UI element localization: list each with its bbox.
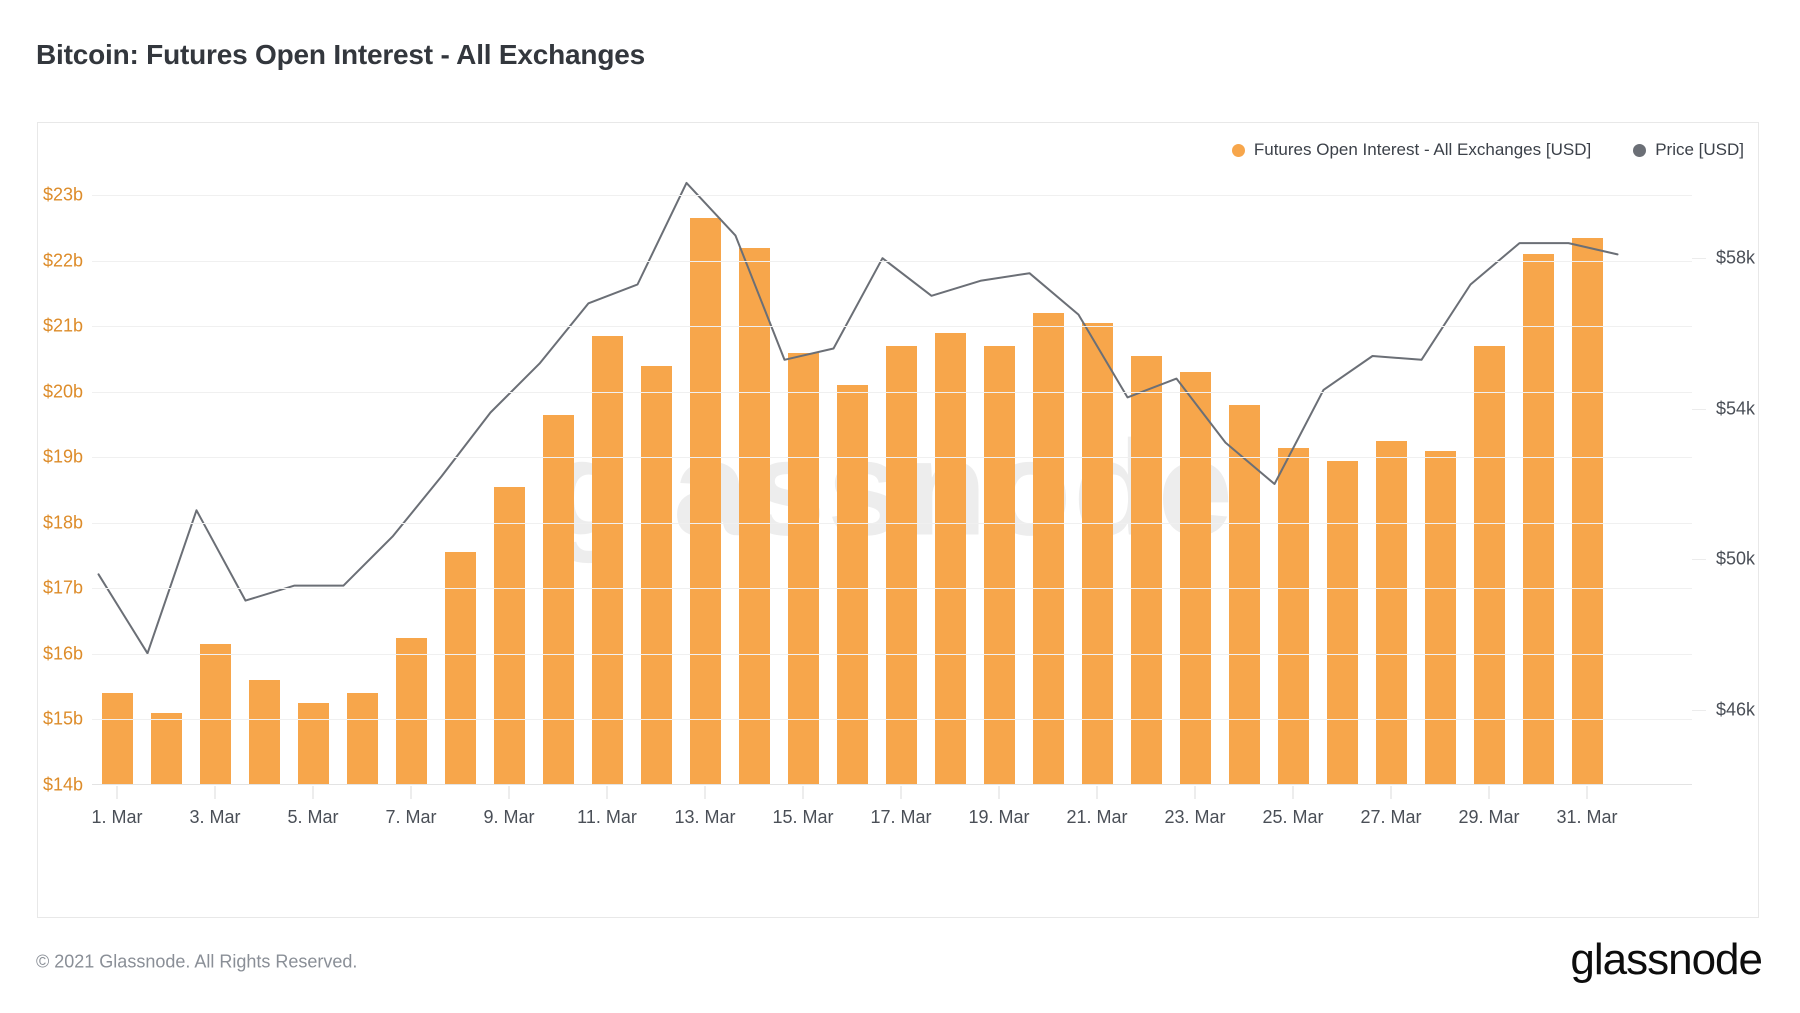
x-axis-tick-label: 1. Mar — [91, 807, 142, 828]
x-axis-tick-label: 11. Mar — [577, 807, 637, 828]
y-axis-right-tick-mark — [1692, 258, 1706, 259]
gridline — [92, 261, 1692, 262]
gridline — [92, 326, 1692, 327]
x-axis-tick-label: 15. Mar — [772, 807, 833, 828]
y-axis-left-tick-label: $15b — [43, 709, 83, 730]
x-axis-tick-mark — [312, 786, 314, 799]
legend-item[interactable]: Price [USD] — [1633, 140, 1744, 160]
x-axis-tick-mark — [1488, 786, 1490, 799]
y-axis-right-tick-label: $54k — [1716, 398, 1755, 419]
gridline — [92, 654, 1692, 655]
series-dot-icon — [1232, 144, 1245, 157]
x-axis-tick-mark — [1194, 786, 1196, 799]
x-axis-tick-label: 13. Mar — [674, 807, 735, 828]
y-axis-right-tick-label: $46k — [1716, 699, 1755, 720]
legend-item[interactable]: Futures Open Interest - All Exchanges [U… — [1232, 140, 1591, 160]
gridline — [92, 588, 1692, 589]
page-title: Bitcoin: Futures Open Interest - All Exc… — [36, 39, 645, 71]
y-axis-left-tick-label: $16b — [43, 643, 83, 664]
x-axis-tick-label: 19. Mar — [968, 807, 1029, 828]
x-axis-tick-label: 25. Mar — [1262, 807, 1323, 828]
x-axis-tick-label: 31. Mar — [1556, 807, 1617, 828]
x-axis-tick-label: 7. Mar — [385, 807, 436, 828]
y-axis-left-tick-label: $14b — [43, 775, 83, 796]
x-axis-tick-mark — [1292, 786, 1294, 799]
footer-logo: glassnode — [1570, 935, 1762, 985]
y-axis-left-tick-label: $18b — [43, 512, 83, 533]
legend-label: Price [USD] — [1655, 140, 1744, 160]
x-axis-tick-label: 27. Mar — [1360, 807, 1421, 828]
gridline — [92, 523, 1692, 524]
y-axis-left-tick-label: $21b — [43, 316, 83, 337]
series-dot-icon — [1633, 144, 1646, 157]
y-axis-right-tick-mark — [1692, 409, 1706, 410]
x-axis-tick-label: 5. Mar — [287, 807, 338, 828]
legend-label: Futures Open Interest - All Exchanges [U… — [1254, 140, 1591, 160]
x-axis-baseline — [92, 784, 1692, 785]
x-axis-tick-label: 29. Mar — [1458, 807, 1519, 828]
x-axis-tick-mark — [214, 786, 216, 799]
y-axis-right-tick-mark — [1692, 710, 1706, 711]
y-axis-left-tick-label: $19b — [43, 447, 83, 468]
y-axis-right-tick-label: $58k — [1716, 248, 1755, 269]
chart-page: Bitcoin: Futures Open Interest - All Exc… — [0, 0, 1800, 1013]
x-axis-tick-mark — [1586, 786, 1588, 799]
x-axis-tick-mark — [116, 786, 118, 799]
y-axis-left-tick-label: $17b — [43, 578, 83, 599]
x-axis-tick-mark — [802, 786, 804, 799]
x-axis-tick-mark — [998, 786, 1000, 799]
x-axis-tick-mark — [508, 786, 510, 799]
chart-legend: Futures Open Interest - All Exchanges [U… — [1232, 137, 1744, 163]
y-axis-right-tick-label: $50k — [1716, 549, 1755, 570]
x-axis-tick-label: 3. Mar — [189, 807, 240, 828]
price-line — [99, 183, 1618, 653]
gridline — [92, 719, 1692, 720]
x-axis-tick-mark — [1096, 786, 1098, 799]
footer-copyright: © 2021 Glassnode. All Rights Reserved. — [36, 952, 357, 973]
y-axis-left-tick-label: $20b — [43, 381, 83, 402]
chart-card: Futures Open Interest - All Exchanges [U… — [37, 122, 1759, 918]
gridline — [92, 392, 1692, 393]
x-axis-tick-label: 17. Mar — [870, 807, 931, 828]
y-axis-left-tick-label: $23b — [43, 185, 83, 206]
gridline — [92, 195, 1692, 196]
y-axis-right-tick-mark — [1692, 559, 1706, 560]
x-axis-tick-mark — [900, 786, 902, 799]
x-axis-tick-mark — [410, 786, 412, 799]
x-axis-tick-mark — [606, 786, 608, 799]
x-axis-tick-label: 9. Mar — [483, 807, 534, 828]
x-axis-tick-label: 23. Mar — [1164, 807, 1225, 828]
gridline — [92, 457, 1692, 458]
price-line-series — [92, 166, 1692, 785]
y-axis-left-tick-label: $22b — [43, 250, 83, 271]
x-axis-tick-label: 21. Mar — [1066, 807, 1127, 828]
plot-area: glassnode $14b$15b$16b$17b$18b$19b$20b$2… — [92, 166, 1692, 785]
x-axis-tick-mark — [1390, 786, 1392, 799]
x-axis-tick-mark — [704, 786, 706, 799]
